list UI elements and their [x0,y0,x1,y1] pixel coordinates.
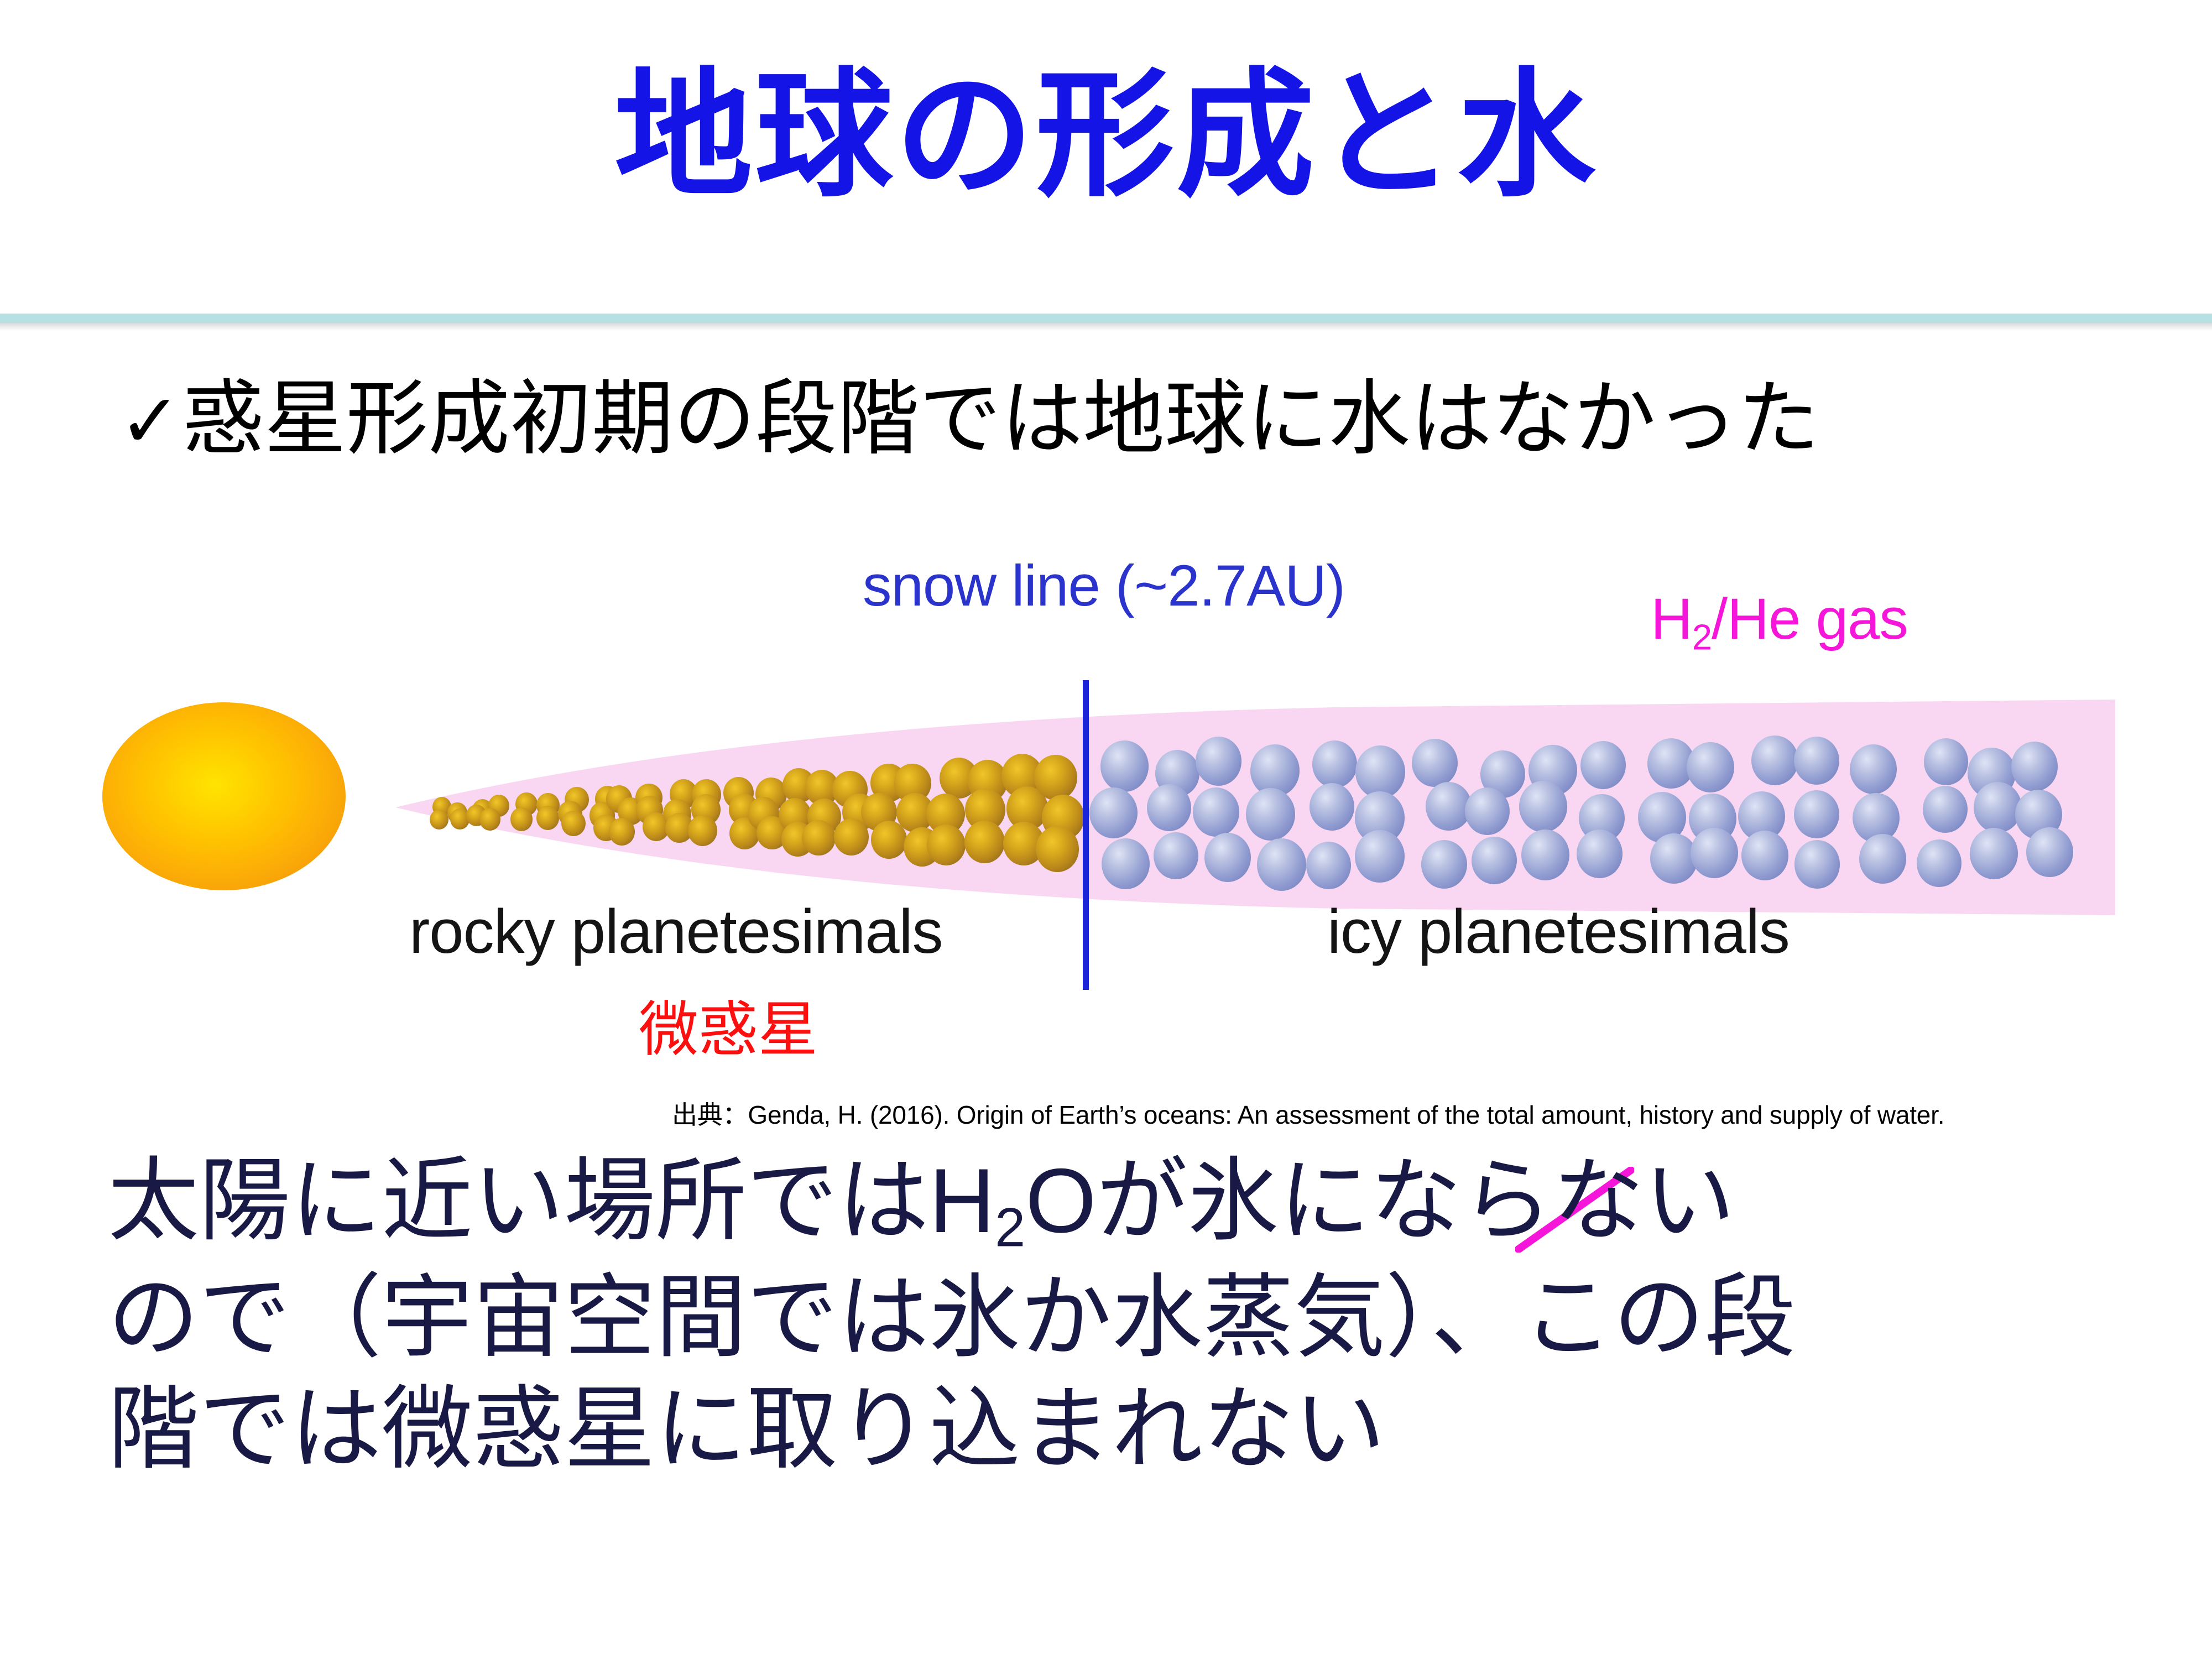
icy-planetesimal [1196,737,1242,786]
icy-planetesimal [1519,781,1567,832]
conclusion-line-2: ので（宇宙空間では氷か水蒸気）、この段 [108,1261,2154,1374]
snow-line-marker [1083,680,1089,990]
rocky-planetesimal [964,821,1004,863]
icy-planetesimal [1421,840,1467,889]
rocky-planetesimal [510,807,533,831]
icy-planetesimal [1193,787,1239,837]
icy-planetesimal [2011,742,2058,791]
icy-planetesimal [1974,782,2022,833]
icy-planetesimal [1577,830,1623,878]
conclusion-paragraph: 太陽に近い場所ではH2Oが氷にならない ので（宇宙空間では氷か水蒸気）、この段 … [108,1145,2154,1485]
icy-planetesimal [1580,741,1626,789]
icy-planetesimals-label: icy planetesimals [1327,896,1790,967]
icy-planetesimal [1923,786,1968,833]
icy-planetesimal [1741,831,1788,880]
conclusion-line-1b: Oが氷にならない [1025,1150,1735,1251]
rocky-planetesimal [1034,755,1077,800]
bullet-text: 惑星形成初期の段階では地球に水はなかった [182,373,1819,465]
icy-planetesimal [1917,839,1961,887]
icy-planetesimal [1426,782,1472,831]
rocky-planetesimal [609,818,635,846]
conclusion-line-1: 太陽に近い場所ではH2Oが氷にならない [108,1145,2154,1261]
icy-planetesimal [1355,745,1405,798]
citation: 出典：Genda, H. (2016). Origin of Earth’s o… [672,1095,1944,1131]
page-title: 地球の形成と水 [0,66,2212,205]
rocky-planetesimal [802,820,836,856]
icy-planetesimal [1355,830,1405,883]
icy-planetesimal [1310,783,1354,831]
micro-planet-label: 微惑星 [639,982,818,1068]
icy-planetesimal [1794,737,1839,785]
conclusion-line-1a: 太陽に近い場所ではH [108,1150,995,1251]
icy-planetesimal [1102,838,1150,889]
icy-planetesimal [1312,740,1357,788]
rocky-planetesimal [561,811,586,836]
rocky-planetesimal [927,825,966,865]
icy-planetesimal [1794,790,1839,838]
conclusion-line-1-subscript: 2 [995,1197,1025,1258]
rocky-planetesimal [1036,826,1079,872]
gas-label-subscript: 2 [1692,617,1712,658]
icy-planetesimal [1970,828,2018,879]
icy-planetesimal [1246,788,1296,841]
icy-planetesimal [1472,837,1516,884]
citation-prefix: 出典： [672,1100,748,1129]
title-divider-shadow [0,323,2212,331]
icy-planetesimal [1850,744,1897,794]
gas-label: H2/He gas [1651,586,1908,658]
icy-planetesimal [1089,787,1138,838]
icy-planetesimal [1257,838,1307,891]
rocky-planetesimals-label: rocky planetesimals [409,896,943,967]
icy-planetesimal [1306,842,1351,889]
gas-label-prefix: H [1651,587,1692,651]
icy-planetesimal [1859,834,1906,884]
rocky-planetesimal [479,808,500,830]
icy-planetesimal [1204,833,1251,882]
icy-planetesimal [1412,739,1458,787]
snow-line-label: snow line (~2.7AU) [863,553,1345,619]
icy-planetesimal [2026,827,2073,877]
icy-planetesimal [1147,784,1191,831]
icy-planetesimal [1100,740,1149,791]
conclusion-line-3: 階では微惑星に取り込まれない [108,1373,2154,1485]
sun-icon [102,702,346,890]
rocky-planetesimal [430,810,448,830]
icy-planetesimal [1521,830,1569,881]
rocky-planetesimal [834,818,869,855]
icy-planetesimal [1465,787,1510,835]
icy-planetesimal [1691,828,1738,878]
title-divider [0,314,2212,323]
icy-planetesimal [1924,738,1969,786]
gas-label-suffix: /He gas [1712,587,1908,651]
icy-planetesimal [1154,832,1198,879]
bullet-row: ✓惑星形成初期の段階では地球に水はなかった [119,373,2110,465]
citation-text: Genda, H. (2016). Origin of Earth’s ocea… [748,1100,1944,1129]
checkmark-icon: ✓ [119,379,181,463]
icy-planetesimal [1687,742,1734,792]
icy-planetesimal [1794,840,1840,888]
